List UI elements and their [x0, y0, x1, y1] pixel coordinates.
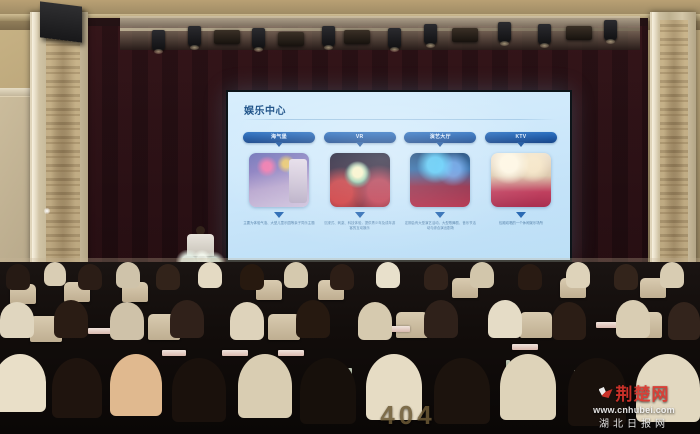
audience-member — [296, 300, 330, 338]
slide-card-caption: 包厢欢唱的一个休闲娱乐场所 — [485, 221, 557, 226]
watermark-brand: 荆楚网 — [616, 380, 670, 405]
audience-member — [668, 302, 700, 340]
stage-light-icon — [538, 24, 551, 44]
audience-member — [230, 302, 264, 340]
slide-card-row: 海气堡 主要为体验气泡、大型儿童乐园等亲子同乐主题 VR 沉浸式、刺激、科技体验… — [242, 132, 558, 254]
audience-member — [500, 354, 556, 420]
stage-light-icon — [388, 28, 401, 48]
stage-light-icon — [452, 28, 478, 42]
audience-member — [660, 262, 684, 288]
audience-member — [240, 264, 264, 290]
decorative-pillar-left — [30, 12, 88, 302]
pillar-highlight — [32, 12, 39, 302]
audience-member — [470, 262, 494, 288]
watermark-logo: 荆楚网 — [574, 380, 694, 405]
chair — [520, 312, 552, 338]
ceiling-speaker — [40, 1, 82, 42]
slide-card-caption: 沉浸式、刺激、科技体验，提供青少年及成年游客的互动娱乐 — [324, 221, 396, 232]
audience-member — [424, 264, 448, 290]
slide-card-tab: 演艺大厅 — [404, 132, 476, 143]
audience-member — [110, 354, 162, 416]
audience-member — [54, 300, 88, 338]
stage-light-icon — [566, 26, 592, 40]
slide-title: 娱乐中心 — [244, 102, 286, 117]
pillar-relief-carving — [46, 20, 80, 298]
audience-member — [358, 302, 392, 340]
shirt-graphic-404: 404 — [372, 398, 444, 432]
slide-card-tab-label: 演艺大厅 — [430, 135, 451, 140]
audience-member — [198, 262, 222, 288]
pillar-glint — [44, 208, 50, 214]
pillar-relief-carving — [660, 20, 688, 298]
seat-placard — [222, 350, 248, 356]
audience-member — [0, 354, 46, 412]
slide-card-caption: 主要为体验气泡、大型儿童乐园等亲子同乐主题 — [243, 221, 315, 226]
audience-member — [52, 358, 102, 418]
audience-member — [156, 264, 180, 290]
audience-member — [424, 300, 458, 338]
stage-light-icon — [278, 32, 304, 46]
watermark-url: www.cnhubei.com — [574, 405, 694, 415]
slide-card: 演艺大厅 定期会有大型演艺活动，大型歌舞剧、音乐节活动与综合演出剧场 — [403, 132, 477, 254]
audience-member — [0, 302, 34, 338]
audience-member — [566, 262, 590, 288]
slide-card-tab: KTV — [485, 132, 557, 143]
audience-member — [110, 302, 144, 340]
stage-light-icon — [152, 30, 165, 50]
down-arrow-icon — [516, 212, 526, 218]
slide-card-tab-label: KTV — [516, 135, 527, 140]
audience-member — [170, 300, 204, 338]
down-arrow-icon — [435, 212, 445, 218]
down-arrow-icon — [274, 212, 284, 218]
audience-member — [6, 264, 30, 290]
stage-light-icon — [322, 26, 335, 46]
seat-placard — [512, 344, 538, 350]
slide-card-tab-label: 海气堡 — [271, 135, 287, 140]
pillar-highlight — [652, 12, 659, 302]
stage-light-icon — [498, 22, 511, 42]
audience-member — [284, 262, 308, 288]
audience-member — [518, 264, 542, 290]
decorative-pillar-right — [650, 12, 696, 302]
presentation-slide: 娱乐中心 海气堡 主要为体验气泡、大型儿童乐园等亲子同乐主题 VR 沉浸式、刺激… — [228, 92, 570, 260]
audience-member — [616, 300, 650, 338]
audience-member — [238, 354, 292, 418]
stage-light-icon — [344, 30, 370, 44]
audience-member — [44, 262, 66, 286]
slide-card: KTV 包厢欢唱的一个休闲娱乐场所 — [484, 132, 558, 254]
audience-member — [116, 262, 140, 288]
stage-light-icon — [604, 20, 617, 40]
watermark: 荆楚网 www.cnhubei.com 湖北日报网 — [574, 380, 694, 430]
audience-member — [172, 358, 226, 422]
audience-member — [78, 264, 102, 290]
audience-member — [330, 264, 354, 290]
stage-light-icon — [188, 26, 201, 46]
slide-divider — [242, 119, 556, 120]
seat-placard — [278, 350, 304, 356]
brand-mark-icon — [599, 387, 613, 398]
audience-member — [300, 358, 356, 424]
audience-member — [552, 302, 586, 340]
watermark-subtitle: 湖北日报网 — [574, 415, 694, 430]
slide-card-thumbnail — [249, 153, 309, 207]
conference-hall-photo: 娱乐中心 海气堡 主要为体验气泡、大型儿童乐园等亲子同乐主题 VR 沉浸式、刺激… — [0, 0, 700, 434]
audience-member — [488, 300, 522, 338]
slide-card-thumbnail — [330, 153, 390, 207]
slide-card-caption: 定期会有大型演艺活动，大型歌舞剧、音乐节活动与综合演出剧场 — [404, 221, 476, 232]
stage-light-icon — [252, 28, 265, 48]
slide-card-thumbnail — [491, 153, 551, 207]
stage-light-icon — [424, 24, 437, 44]
slide-card-tab: VR — [324, 132, 396, 143]
seat-placard — [162, 350, 186, 356]
slide-card-tab-label: VR — [356, 135, 364, 140]
audience-member — [614, 264, 638, 290]
down-arrow-icon — [355, 212, 365, 218]
slide-card-tab: 海气堡 — [243, 132, 315, 143]
audience-member — [376, 262, 400, 288]
slide-card-thumbnail — [410, 153, 470, 207]
slide-card: 海气堡 主要为体验气泡、大型儿童乐园等亲子同乐主题 — [242, 132, 316, 254]
stage-light-icon — [214, 30, 240, 44]
slide-card: VR 沉浸式、刺激、科技体验，提供青少年及成年游客的互动娱乐 — [323, 132, 397, 254]
